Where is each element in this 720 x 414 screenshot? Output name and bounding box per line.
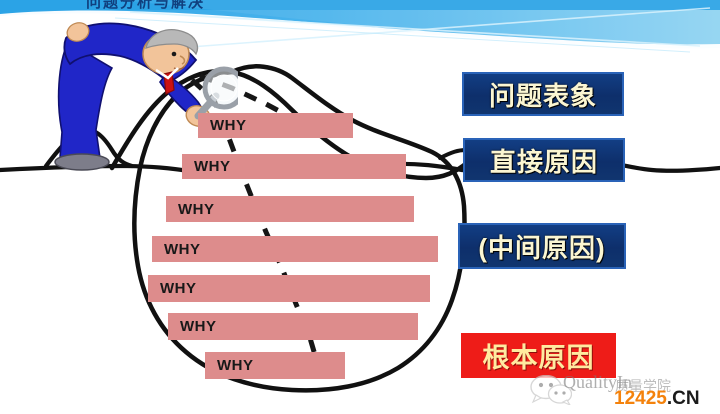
watermark-url: 12425.CN (614, 388, 700, 410)
why-bar: WHY (148, 275, 430, 302)
why-bar-label: WHY (152, 241, 201, 258)
label-direct-cause: 直接原因 (463, 138, 625, 182)
why-bar-label: WHY (198, 117, 247, 134)
eye (172, 52, 177, 57)
why-bar: WHY (152, 236, 438, 262)
why-bar-label: WHY (168, 318, 217, 335)
magnifier-glass-highlight (211, 75, 237, 101)
why-bar-label: WHY (148, 280, 197, 297)
why-bar-label: WHY (205, 357, 254, 374)
why-bar: WHY (205, 352, 345, 379)
label-text: 直接原因 (490, 142, 598, 179)
why-bar: WHY (198, 113, 353, 138)
why-bar: WHY (166, 196, 414, 222)
why-bar: WHY (182, 154, 406, 179)
label-text: 根本原因 (483, 336, 595, 375)
inspector-with-magnifier (38, 12, 238, 172)
inspector-graphic (38, 12, 238, 172)
why-bar-label: WHY (166, 201, 215, 218)
label-intermediate-cause: (中间原因) (458, 223, 626, 269)
label-text: (中间原因) (478, 228, 605, 265)
watermark-url-prefix: 12425 (614, 388, 667, 409)
slide-canvas: 问题分析与解决 (0, 0, 720, 414)
watermark-url-suffix: .CN (667, 388, 700, 409)
shoe (55, 154, 109, 170)
label-problem-symptom: 问题表象 (462, 72, 624, 116)
why-bar: WHY (168, 313, 418, 340)
label-text: 问题表象 (489, 76, 597, 113)
why-bar-label: WHY (182, 158, 231, 175)
